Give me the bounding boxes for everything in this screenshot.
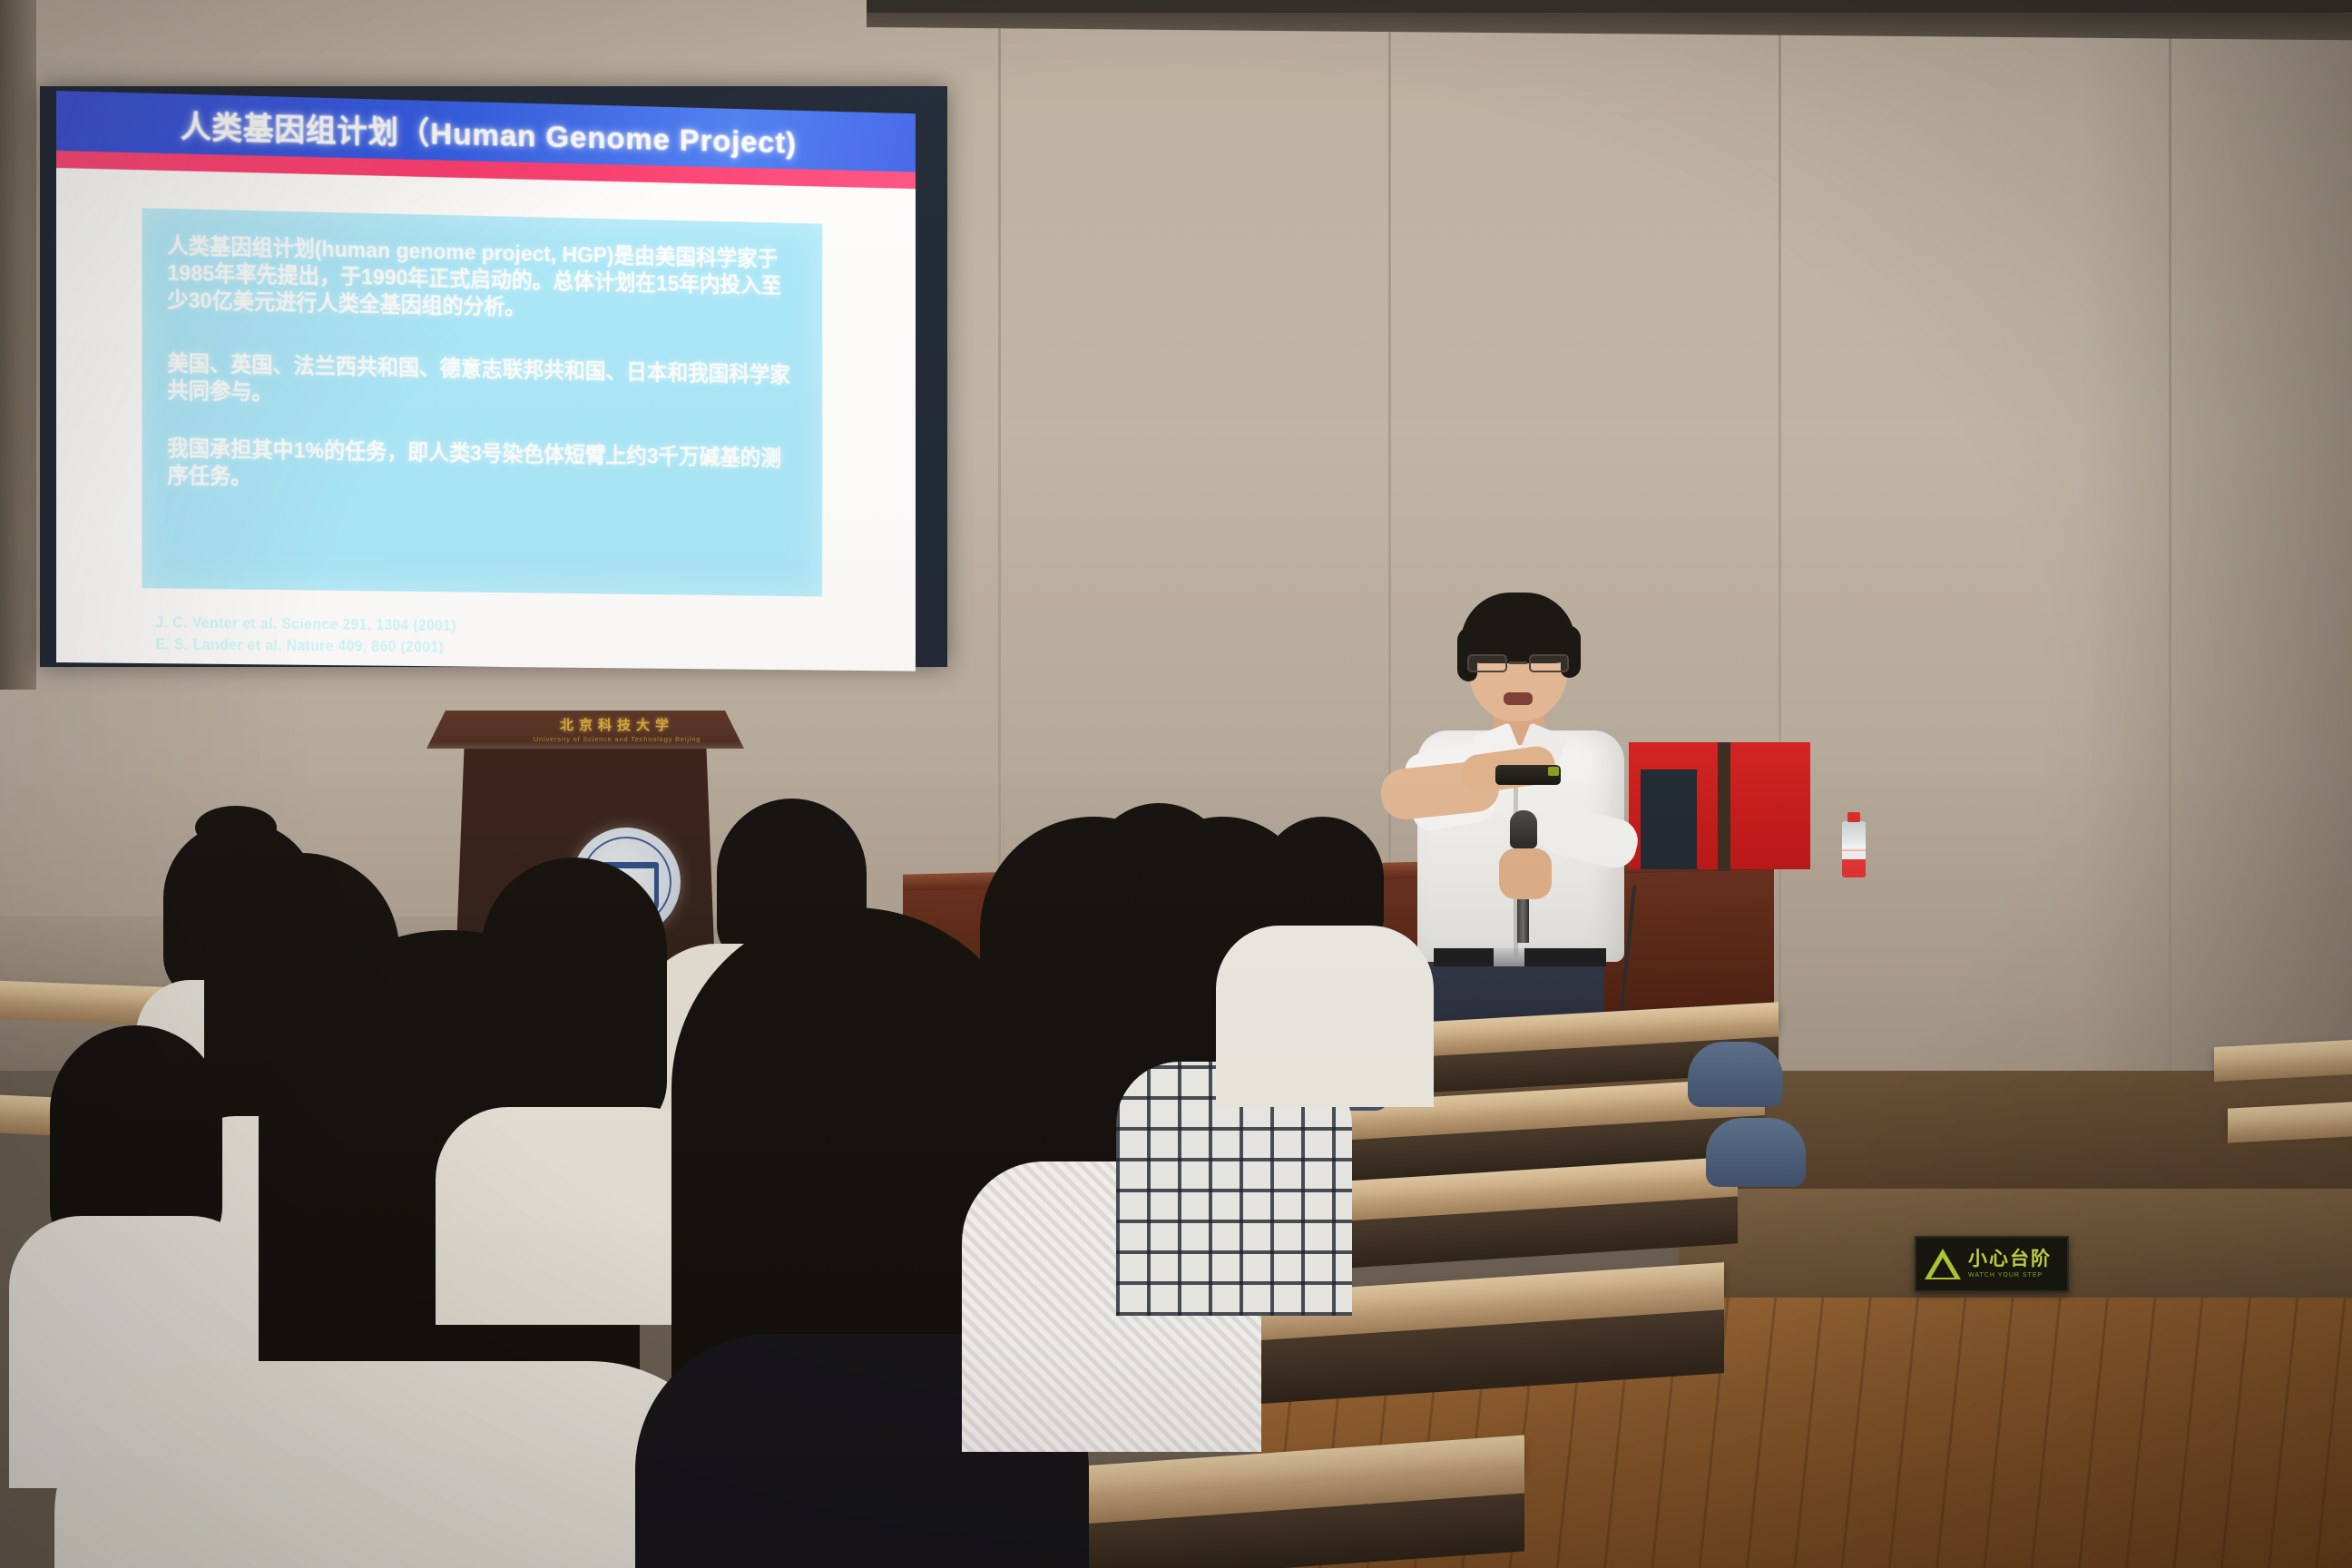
- podium-name-cn: 北京科技大学: [560, 715, 674, 734]
- bottle-body: [1842, 821, 1866, 877]
- slide-content-box: 人类基因组计划(human genome project, HGP)是由美国科学…: [142, 208, 823, 596]
- glasses-bridge: [1509, 661, 1527, 664]
- sign-text-cn: 小心台阶: [1968, 1249, 2052, 1269]
- glasses-lens-right: [1529, 654, 1569, 672]
- wall-left-shadow: [0, 0, 36, 690]
- red-chair-frame: [1718, 742, 1730, 871]
- lecture-hall-photo: 人类基因组计划（Human Genome Project) 人类基因组计划(hu…: [0, 0, 2352, 1568]
- microphone-icon: [1510, 810, 1537, 848]
- student-hair-bun: [195, 806, 277, 849]
- podium-nameplate: 北京科技大学 University of Science and Technol…: [508, 716, 726, 741]
- slide-paragraph-3: 我国承担其中1%的任务，即人类3号染色体短臂上约3千万碱基的测序任务。: [167, 435, 799, 498]
- bottle-label: [1842, 851, 1866, 859]
- presenter-hand-right: [1499, 848, 1552, 899]
- slide-body: 人类基因组计划(human genome project, HGP)是由美国科学…: [56, 168, 916, 671]
- bottle-cap: [1847, 812, 1860, 822]
- warning-triangle-icon: [1925, 1249, 1961, 1279]
- wall-right-shadow: [2080, 0, 2352, 1071]
- student-hair: [481, 857, 667, 1139]
- glasses-icon: [1467, 654, 1569, 672]
- presenter-mouth: [1504, 692, 1533, 705]
- glasses-lens-left: [1467, 654, 1507, 672]
- sign-text: 小心台阶 WATCH YOUR STEP: [1968, 1249, 2052, 1279]
- ceiling-beam-shadow: [867, 0, 2352, 13]
- student-top: [1216, 926, 1434, 1107]
- presenter-hair: [1461, 593, 1575, 663]
- slide-paragraph-1: 人类基因组计划(human genome project, HGP)是由美国科学…: [167, 232, 799, 327]
- wall-seam: [1779, 0, 1781, 1071]
- sign-text-en: WATCH YOUR STEP: [1968, 1272, 2052, 1279]
- slide-citation-2: E. S. Lander et al. Nature 409, 860 (200…: [155, 637, 444, 656]
- slide-title: 人类基因组计划（Human Genome Project): [181, 102, 797, 162]
- water-bottle: [1842, 812, 1866, 877]
- lecture-chair: [1706, 1118, 1806, 1187]
- remote-led: [1548, 767, 1559, 776]
- podium-name-en: University of Science and Technology Bei…: [534, 735, 701, 743]
- slide-paragraph-2: 美国、英国、法兰西共和国、德意志联邦共和国、日本和我国科学家共同参与。: [167, 349, 799, 415]
- lecture-chair: [1688, 1042, 1783, 1107]
- slide-citation-1: J. C. Venter et al. Science 291, 1304 (2…: [155, 615, 456, 635]
- presenter-belt-buckle: [1494, 948, 1524, 966]
- watch-your-step-sign: 小心台阶 WATCH YOUR STEP: [1915, 1236, 2069, 1292]
- presentation-slide: 人类基因组计划（Human Genome Project) 人类基因组计划(hu…: [56, 91, 916, 671]
